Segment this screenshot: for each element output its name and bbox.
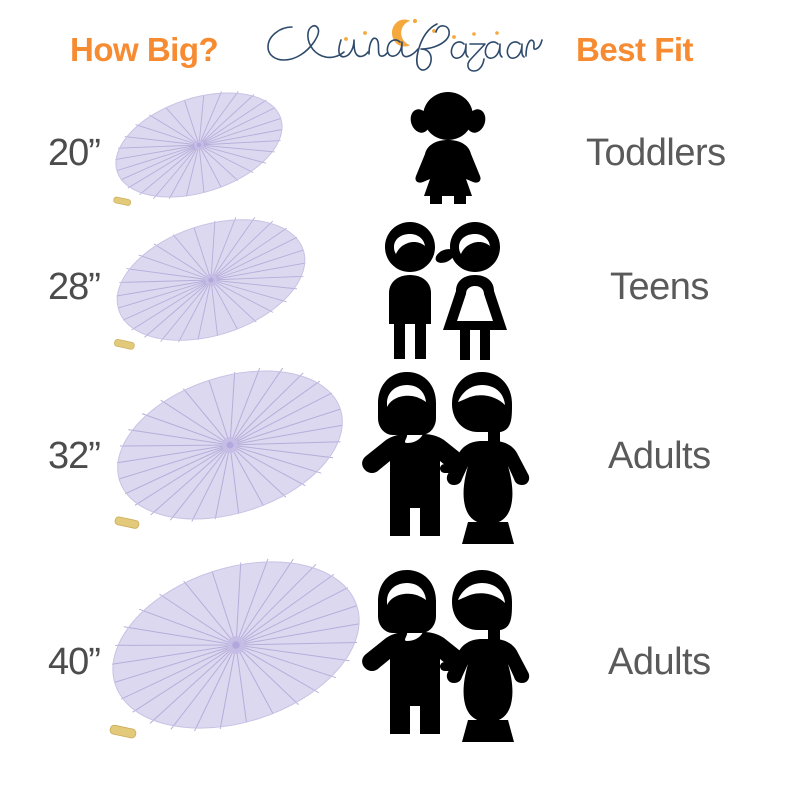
fit-label-adults-32: Adults <box>608 435 711 478</box>
crescent-moon-icon <box>392 20 410 47</box>
size-label-32: 32” <box>48 435 100 478</box>
parasol-28-inch <box>108 212 318 362</box>
size-row-40: 40” <box>0 548 800 763</box>
fit-label-adults-40: Adults <box>608 641 711 684</box>
parasol-handle <box>112 192 133 211</box>
size-row-20: 20” <box>0 88 800 208</box>
size-row-32: 32” <box>0 360 800 545</box>
column-heading-best-fit: Best Fit <box>576 31 693 69</box>
size-row-28: 28” <box>0 210 800 360</box>
size-label-20: 20” <box>48 132 100 175</box>
parasol-handle <box>112 510 141 536</box>
header: How Big? <box>0 0 800 92</box>
star-dots <box>344 19 499 41</box>
brand-logo-luna-bazaar <box>258 14 548 80</box>
size-label-40: 40” <box>48 641 100 684</box>
parasol-32-inch <box>110 362 355 547</box>
teen-couple-icon <box>372 218 522 363</box>
adult-woman-figure <box>447 570 529 742</box>
adult-woman-figure <box>447 372 529 544</box>
brand-script-wordmark <box>268 24 542 71</box>
column-heading-how-big: How Big? <box>70 31 218 69</box>
size-label-28: 28” <box>48 266 100 309</box>
parasol-handle <box>112 333 137 355</box>
parasol-40-inch <box>108 550 368 762</box>
parasol-size-chart-infographic: How Big? <box>0 0 800 800</box>
fit-label-toddlers: Toddlers <box>586 132 726 175</box>
adult-couple-icon <box>358 368 536 548</box>
fit-label-teens: Teens <box>610 266 709 309</box>
toddler-girl-icon <box>392 92 504 204</box>
parasol-handle <box>107 718 139 746</box>
teen-girl-figure <box>433 222 507 360</box>
adult-man-figure <box>362 570 468 734</box>
parasol-20-inch <box>104 90 294 210</box>
teen-boy-figure <box>385 222 435 359</box>
adult-man-figure <box>362 372 468 536</box>
adult-couple-icon <box>358 566 536 746</box>
